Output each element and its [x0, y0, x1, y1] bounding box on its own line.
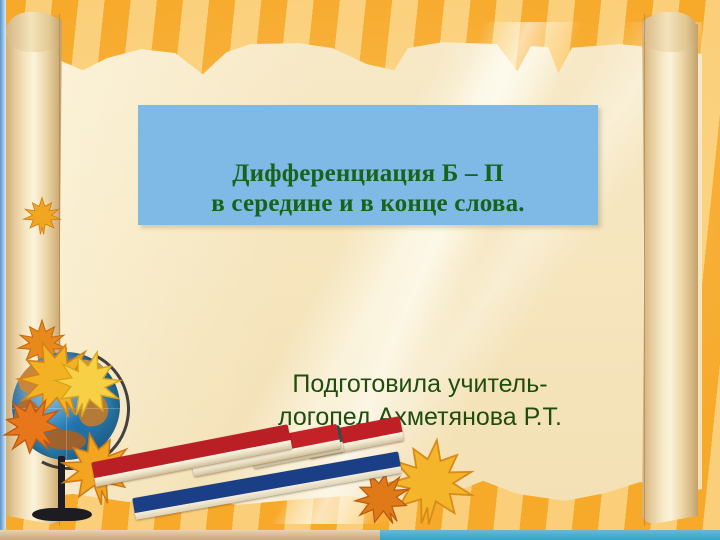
slide-title-box: Дифференциация Б – П в середине и в конц… — [138, 105, 598, 225]
presentation-slide: Дифференциация Б – П в середине и в конц… — [0, 0, 720, 540]
slide-title-line-2: в середине и в конце слова. — [211, 189, 525, 219]
frame-strip-bottom-right — [380, 530, 720, 540]
maple-leaf-icon — [22, 196, 62, 236]
slide-title-line-1: Дифференциация Б – П — [232, 159, 504, 189]
slide-subtitle: Подготовила учитель- логопед Ахметянова … — [210, 368, 630, 434]
slide-subtitle-line-1: Подготовила учитель- — [210, 368, 630, 401]
scroll-roll-right-icon — [642, 14, 698, 526]
